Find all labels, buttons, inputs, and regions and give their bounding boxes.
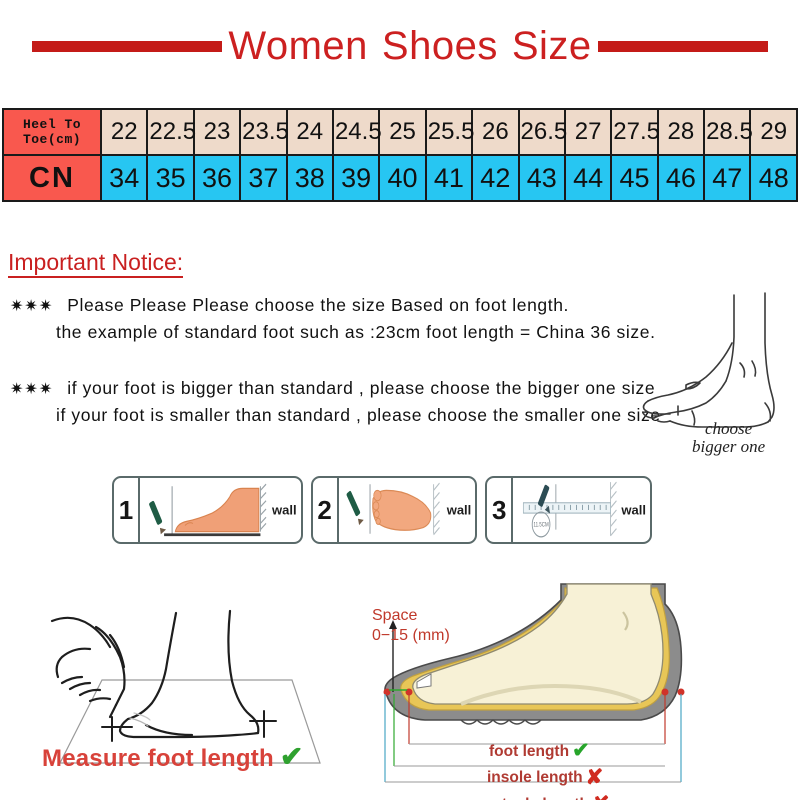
cell-cn: 36 [194, 155, 240, 201]
shoe-dimension-labels: foot length ✔ insole length ✘ outsole le… [483, 738, 610, 800]
page-title-word-2: Shoes [382, 24, 498, 68]
step-2-wall-label: wall [447, 503, 472, 518]
cell-cn: 44 [565, 155, 611, 201]
step-3-wall-label: wall [621, 503, 646, 518]
cell-cm: 29 [750, 109, 797, 155]
cell-cn: 39 [333, 155, 379, 201]
row-header-cn: CN [3, 155, 101, 201]
measure-caption-text: Measure foot length [42, 745, 274, 772]
title-rule-left [32, 41, 222, 52]
step-1-number: 1 [114, 478, 140, 542]
space-label-line-1: Space [372, 606, 450, 626]
page-title-word-3: Size [512, 24, 592, 68]
cell-cn: 46 [658, 155, 704, 201]
measurement-steps: 1 [112, 476, 652, 544]
cell-cm: 25.5 [426, 109, 472, 155]
row-header-heel-to-toe: Heel To Toe(cm) [3, 109, 101, 155]
asterisk-icon: ✷✷✷ [10, 381, 53, 398]
cell-cn: 37 [240, 155, 286, 201]
cell-cm: 25 [379, 109, 425, 155]
step-1: 1 [112, 476, 303, 544]
cell-cm: 23.5 [240, 109, 286, 155]
cell-cn: 34 [101, 155, 147, 201]
page-title: WomenShoesSize [228, 24, 591, 69]
cross-icon: ✘ [592, 792, 610, 800]
step-2-illustration: wall [339, 478, 476, 542]
cell-cn: 47 [704, 155, 750, 201]
title-rule-right [598, 41, 768, 52]
step-2-number: 2 [313, 478, 339, 542]
size-conversion-table: Heel To Toe(cm) 22 22.5 23 23.5 24 24.5 … [2, 108, 798, 202]
caption-line-1: choose [692, 420, 765, 438]
page-title-row: WomenShoesSize [0, 18, 800, 74]
notice-line-1: ✷✷✷Please Please Please choose the size … [10, 295, 569, 316]
dimension-outsole-length: outsole length ✘ [483, 792, 610, 800]
cross-icon: ✘ [586, 765, 604, 792]
cell-cm: 27.5 [611, 109, 657, 155]
step-3: 3 [485, 476, 652, 544]
cell-cn: 35 [147, 155, 193, 201]
cell-cn: 45 [611, 155, 657, 201]
notice-line-3-text: if your foot is bigger than standard , p… [67, 378, 655, 398]
notice-line-3: ✷✷✷if your foot is bigger than standard … [10, 378, 655, 399]
cell-cm: 28.5 [704, 109, 750, 155]
notice-line-1-text: Please Please Please choose the size Bas… [67, 295, 569, 315]
cell-cm: 24.5 [333, 109, 379, 155]
step-3-badge: 11.5CM [534, 522, 550, 529]
notice-line-2: the example of standard foot such as :23… [56, 322, 656, 343]
cell-cn: 43 [519, 155, 565, 201]
step-3-number: 3 [487, 478, 513, 542]
dimension-foot-length-text: foot length [489, 742, 569, 762]
cell-cm: 22 [101, 109, 147, 155]
cell-cn: 48 [750, 155, 797, 201]
check-icon: ✔ [280, 741, 304, 772]
measure-foot-length-caption: Measure foot length✔ [42, 740, 303, 773]
step-1-wall-label: wall [272, 503, 297, 518]
cell-cn: 41 [426, 155, 472, 201]
table-row-cn: CN 34 35 36 37 38 39 40 41 42 43 44 45 4… [3, 155, 797, 201]
dimension-insole-length: insole length ✘ [487, 765, 610, 792]
cell-cm: 27 [565, 109, 611, 155]
cell-cm: 26 [472, 109, 518, 155]
cell-cm: 23 [194, 109, 240, 155]
cell-cn: 42 [472, 155, 518, 201]
caption-line-2: bigger one [692, 438, 765, 456]
important-notice-heading: Important Notice: [8, 250, 183, 278]
table-row-heel-to-toe: Heel To Toe(cm) 22 22.5 23 23.5 24 24.5 … [3, 109, 797, 155]
cell-cm: 28 [658, 109, 704, 155]
step-3-illustration: 11.5CM wall [513, 478, 650, 542]
size-chart-page: WomenShoesSize Heel To Toe(cm) 22 22.5 2… [0, 0, 800, 800]
cell-cm: 22.5 [147, 109, 193, 155]
feet-illustration-caption: choose bigger one [692, 420, 765, 456]
cell-cm: 26.5 [519, 109, 565, 155]
dimension-insole-length-text: insole length [487, 768, 583, 788]
cell-cm: 24 [287, 109, 333, 155]
cell-cn: 38 [287, 155, 333, 201]
check-icon: ✔ [572, 738, 590, 765]
step-2: 2 [311, 476, 478, 544]
step-1-illustration: wall [140, 478, 301, 542]
space-label-line-2: 0−15 (mm) [372, 626, 450, 646]
cell-cn: 40 [379, 155, 425, 201]
asterisk-icon: ✷✷✷ [10, 298, 53, 315]
dimension-foot-length: foot length ✔ [489, 738, 610, 765]
page-title-word-1: Women [228, 24, 368, 68]
space-label: Space 0−15 (mm) [372, 606, 450, 646]
dimension-outsole-length-text: outsole length [483, 795, 589, 800]
notice-line-4: if your foot is smaller than standard , … [56, 405, 661, 426]
